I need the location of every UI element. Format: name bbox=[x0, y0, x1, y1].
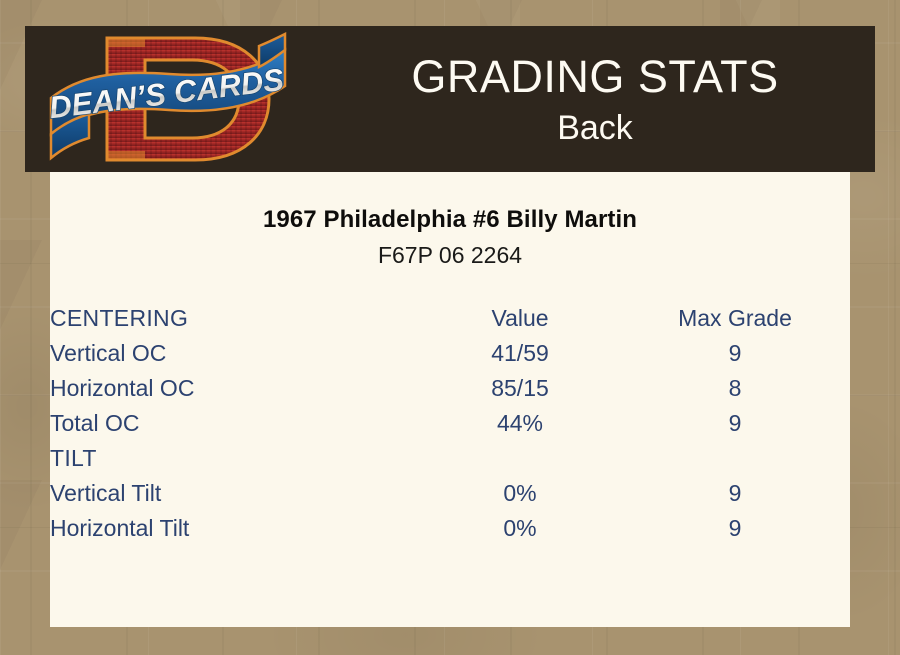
stat-value: 41/59 bbox=[420, 336, 620, 371]
stat-label: Total OC bbox=[50, 406, 420, 441]
page-title: GRADING STATS bbox=[411, 50, 778, 104]
stat-value: 44% bbox=[420, 406, 620, 441]
card-code: F67P 06 2264 bbox=[50, 241, 850, 270]
card-title: 1967 Philadelphia #6 Billy Martin bbox=[50, 205, 850, 235]
stat-max-grade: 9 bbox=[620, 406, 850, 441]
stat-label: Horizontal Tilt bbox=[50, 511, 420, 546]
table-row: Vertical OC 41/59 9 bbox=[50, 336, 850, 371]
grading-stats-table: CENTERING Value Max Grade Vertical OC 41… bbox=[50, 301, 850, 546]
column-header-max-grade: Max Grade bbox=[620, 301, 850, 336]
stat-max-grade: 8 bbox=[620, 371, 850, 406]
stat-label: Vertical OC bbox=[50, 336, 420, 371]
section-title-tilt: TILT bbox=[50, 441, 420, 476]
section-tilt-grade-spacer bbox=[620, 441, 850, 476]
header-title-block: GRADING STATS Back bbox=[315, 26, 875, 172]
column-header-value: Value bbox=[420, 301, 620, 336]
stat-label: Vertical Tilt bbox=[50, 476, 420, 511]
section-title-centering: CENTERING bbox=[50, 301, 420, 336]
table-row: Vertical Tilt 0% 9 bbox=[50, 476, 850, 511]
page-subtitle: Back bbox=[557, 108, 633, 148]
content-panel: 1967 Philadelphia #6 Billy Martin F67P 0… bbox=[50, 172, 850, 627]
table-row: Horizontal OC 85/15 8 bbox=[50, 371, 850, 406]
section-header-centering: CENTERING Value Max Grade bbox=[50, 301, 850, 336]
header-bar: DEAN’S CARDS GRADING STATS Back bbox=[25, 26, 875, 172]
stat-value: 0% bbox=[420, 476, 620, 511]
stat-max-grade: 9 bbox=[620, 511, 850, 546]
stat-value: 0% bbox=[420, 511, 620, 546]
section-tilt-value-spacer bbox=[420, 441, 620, 476]
stat-max-grade: 9 bbox=[620, 476, 850, 511]
section-header-tilt: TILT bbox=[50, 441, 850, 476]
table-row: Horizontal Tilt 0% 9 bbox=[50, 511, 850, 546]
table-row: Total OC 44% 9 bbox=[50, 406, 850, 441]
stat-label: Horizontal OC bbox=[50, 371, 420, 406]
stat-value: 85/15 bbox=[420, 371, 620, 406]
stat-max-grade: 9 bbox=[620, 336, 850, 371]
deans-cards-logo[interactable]: DEAN’S CARDS bbox=[45, 26, 295, 172]
